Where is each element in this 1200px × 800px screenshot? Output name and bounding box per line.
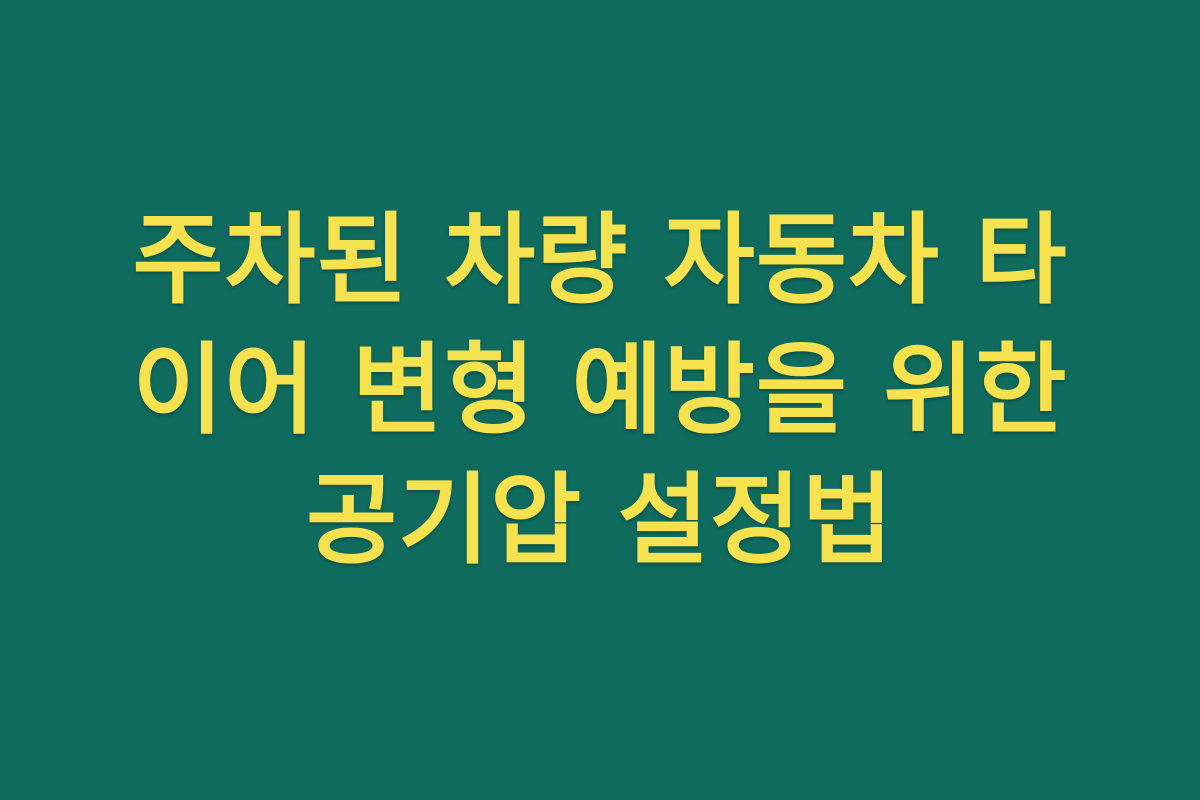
title-card: 주차된 차량 자동차 타 이어 변형 예방을 위한 공기압 설정법 [0,0,1200,800]
headline-block: 주차된 차량 자동차 타 이어 변형 예방을 위한 공기압 설정법 [80,196,1120,586]
headline-line-1: 주차된 차량 자동차 타 [132,196,1067,326]
headline-line-3: 공기압 설정법 [306,456,894,586]
headline-line-2: 이어 변형 예방을 위한 [132,326,1067,456]
